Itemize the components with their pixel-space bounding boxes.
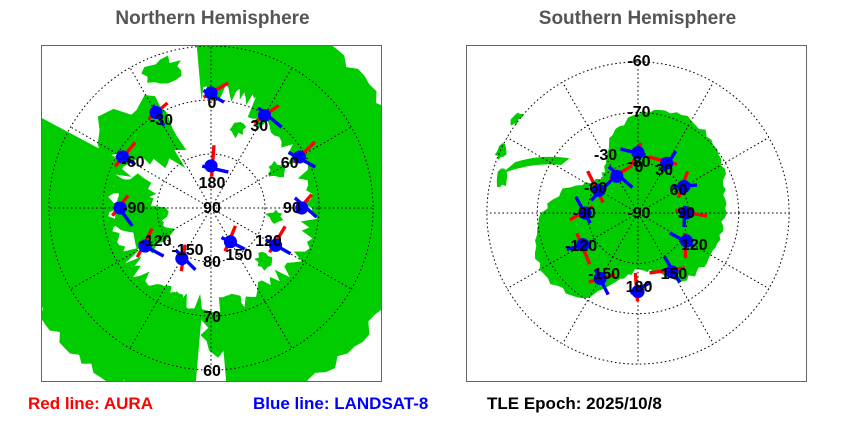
legend-red-line: Red line: AURA [28,394,153,414]
northern-hemisphere-panel: Northern Hemisphere 180-150150-120120-90… [0,0,425,390]
legend: Red line: AURA Blue line: LANDSAT-8 TLE … [0,390,850,425]
landsat8-position-marker [680,206,693,219]
polar-plot-north[interactable]: 180-150150-120120-9090-6060-303009080706… [41,45,382,382]
landsat8-position-marker [631,285,644,298]
landsat8-position-marker [293,150,306,163]
landsat8-position-marker [295,201,308,214]
legend-blue-line: Blue line: LANDSAT-8 [253,394,428,414]
polar-map-north-svg [42,46,381,381]
landsat8-position-marker [175,252,188,265]
polar-plot-south[interactable]: 0306090120150180-150-120-90-60-30-90-80-… [466,45,807,382]
polar-map-south-svg [467,46,806,381]
page-title-south: Southern Hemisphere [425,8,850,30]
landsat8-position-marker [680,234,693,247]
landsat8-position-marker [138,240,151,253]
landsat8-position-marker [660,157,673,170]
landsat8-position-marker [116,150,129,163]
landsat8-position-marker [579,206,592,219]
landsat8-position-marker [224,235,237,248]
landsat8-position-marker [576,238,589,251]
landsat8-position-marker [204,86,217,99]
landsat8-position-marker [610,170,623,183]
southern-hemisphere-panel: Southern Hemisphere 0306090120150180-150… [425,0,850,390]
landsat8-position-marker [665,265,678,278]
landsat8-position-marker [594,272,607,285]
landsat8-position-marker [258,109,271,122]
legend-tle-epoch: TLE Epoch: 2025/10/8 [487,394,662,414]
landsat8-position-marker [204,159,217,172]
landsat8-position-marker [631,146,644,159]
page-title-north: Northern Hemisphere [0,8,425,30]
landsat8-position-marker [149,106,162,119]
landsat8-position-marker [114,201,127,214]
landsat8-position-marker [269,239,282,252]
landsat8-position-marker [677,180,690,193]
landsat8-position-marker [592,184,605,197]
